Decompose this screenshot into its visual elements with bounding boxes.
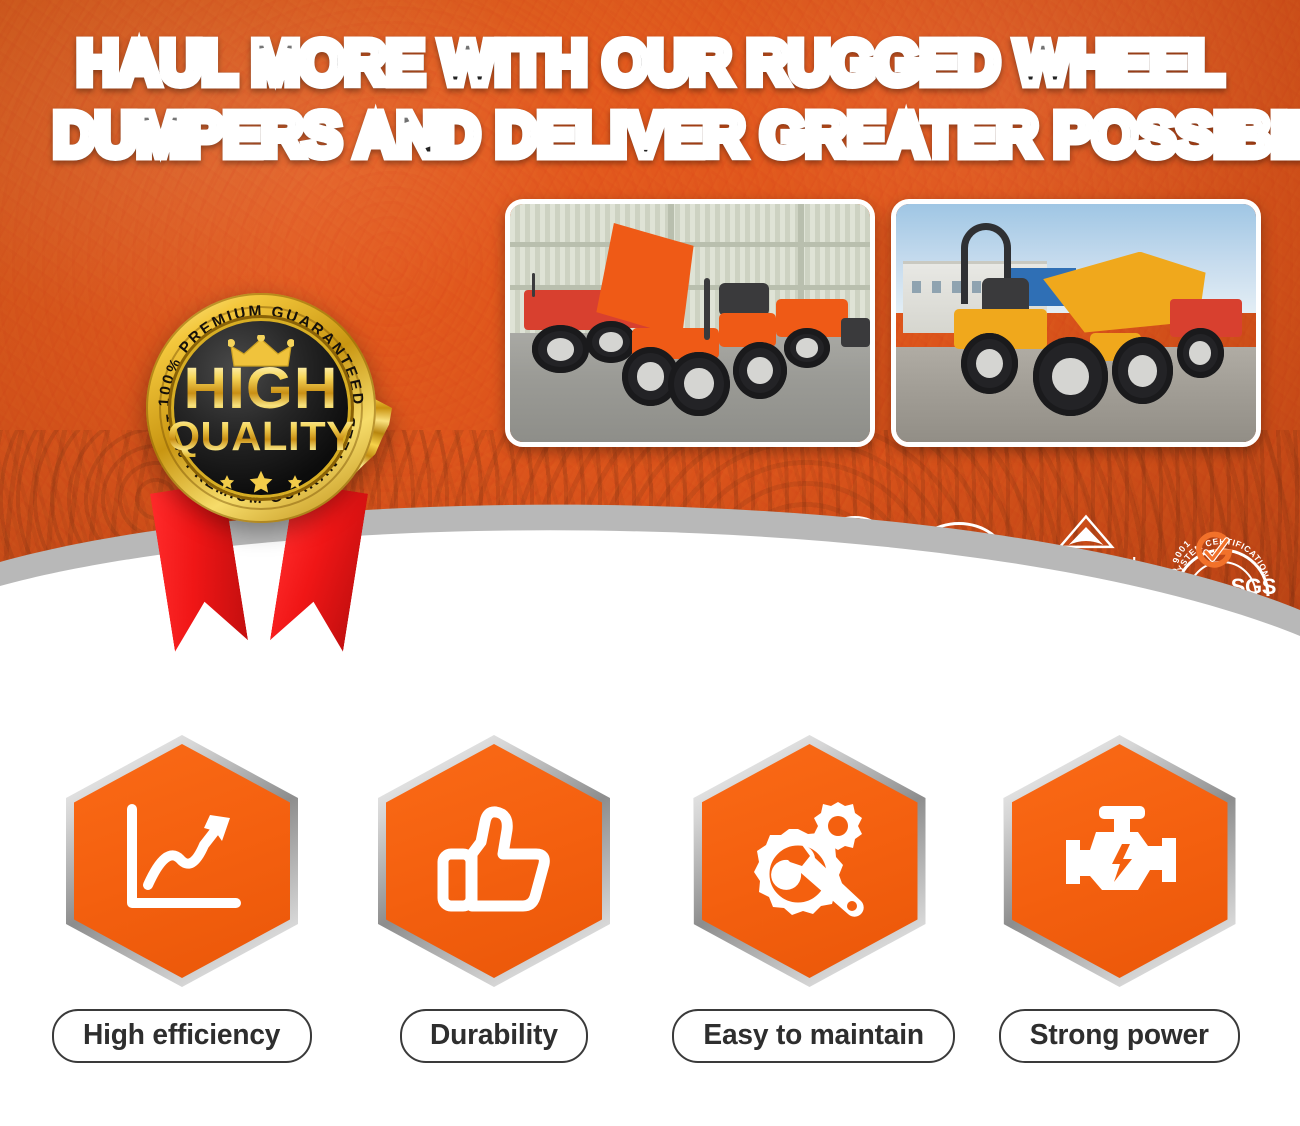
high-quality-badge: 100% PREMIUM GUARANTEED 100% PREMIUM GUA… — [130, 277, 392, 657]
headline-line-1: HAUL MORE WITH OUR RUGGED WHEEL — [53, 28, 1247, 100]
feature-hexagon — [694, 735, 926, 987]
dumper-wheel-rear — [668, 352, 729, 416]
headline: HAUL MORE WITH OUR RUGGED WHEEL DUMPERS … — [15, 28, 1285, 172]
feature-easy-to-maintain[interactable]: Easy to maintain — [672, 735, 947, 1063]
product-photo-orange-dumper — [505, 199, 875, 447]
dumper-seat — [719, 283, 769, 316]
feature-hexagon — [1004, 735, 1236, 987]
dumper-engine-cover — [719, 313, 777, 346]
badge-title-high: HIGH — [125, 363, 397, 415]
feature-hexagon-fill — [702, 744, 918, 978]
feature-label: High efficiency — [83, 1020, 280, 1050]
feature-hexagon — [66, 735, 298, 987]
engine-lightning-icon — [1052, 802, 1188, 920]
feature-label-pill[interactable]: Durability — [400, 1009, 588, 1063]
feature-label: Durability — [430, 1020, 558, 1050]
feature-hexagon-fill — [1012, 744, 1228, 978]
dumper-wheel-side — [1112, 337, 1173, 404]
dumper-wheel-side — [733, 342, 787, 399]
star-icon — [219, 474, 236, 491]
dumper-mast — [704, 278, 710, 340]
feature-label-pill[interactable]: Strong power — [999, 1009, 1240, 1063]
feature-label-pill[interactable]: Easy to maintain — [672, 1009, 955, 1063]
feature-hexagon-fill — [74, 744, 290, 978]
star-icon — [248, 469, 275, 496]
feature-high-efficiency[interactable]: High efficiency — [52, 735, 312, 1063]
gear-wrench-icon — [742, 796, 878, 926]
feature-label: Strong power — [1030, 1020, 1209, 1050]
dumper-wheel-front — [1033, 337, 1109, 416]
background-loader-wheel — [1177, 328, 1224, 378]
feature-hexagon — [378, 735, 610, 987]
background-loader-bucket — [841, 318, 870, 347]
feature-label-pill[interactable]: High efficiency — [52, 1009, 311, 1063]
growth-chart-arrow-icon — [118, 801, 246, 921]
star-icon — [287, 474, 304, 491]
feature-hexagon-fill — [386, 744, 602, 978]
badge-stars — [219, 469, 304, 496]
badge-title-quality: QUALITY — [127, 415, 394, 457]
feature-durability[interactable]: Durability — [364, 735, 624, 1063]
feature-strong-power[interactable]: Strong power — [992, 735, 1247, 1063]
badge-medallion: 100% PREMIUM GUARANTEED 100% PREMIUM GUA… — [130, 277, 392, 539]
background-machine-wheel — [532, 325, 590, 373]
product-photo-yellow-dumper — [891, 199, 1261, 447]
promo-banner: HAUL MORE WITH OUR RUGGED WHEEL DUMPERS … — [0, 0, 1300, 1126]
thumbs-up-icon — [431, 802, 557, 920]
headline-line-2: DUMPERS AND DELIVER GREATER POSSIBILITIE… — [53, 100, 1247, 172]
background-machine-mast — [532, 273, 535, 297]
feature-label: Easy to maintain — [703, 1020, 923, 1050]
features-row: High efficiency Durability — [0, 735, 1300, 1095]
badge-title: HIGH QUALITY — [130, 363, 392, 457]
